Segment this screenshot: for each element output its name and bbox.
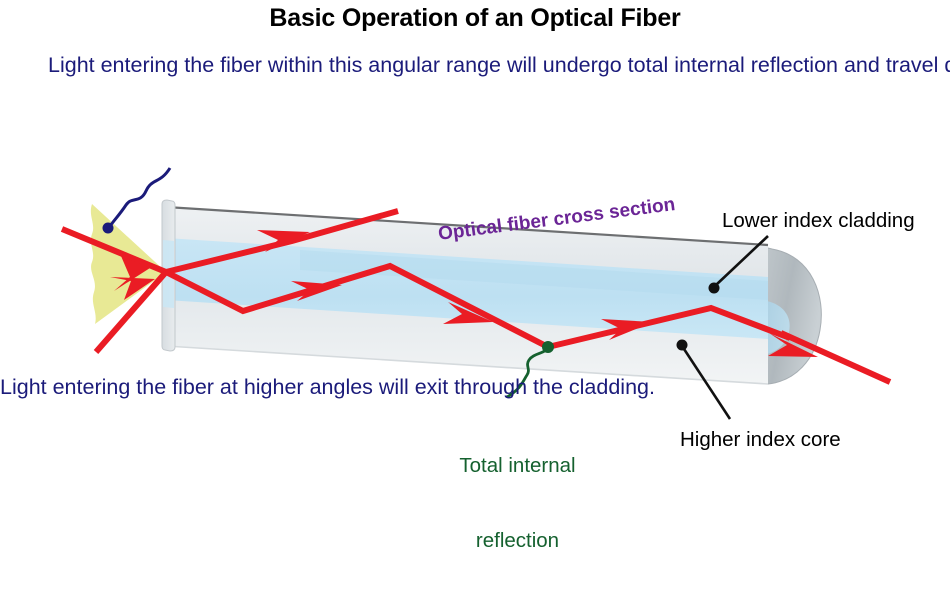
annotation-acceptance-cone: Light entering the fiber within this ang…: [48, 52, 408, 80]
page-title: Basic Operation of an Optical Fiber: [0, 4, 950, 34]
label-lower-index-cladding: Lower index cladding: [722, 209, 915, 233]
dot-marker-icon-tir: [542, 341, 554, 353]
label-tir-line1: Total internal: [430, 453, 605, 478]
label-tir-line2: reflection: [430, 528, 605, 553]
annotation-escape-rays: Light entering the fiber at higher angle…: [0, 374, 300, 402]
dot-marker-icon-cladding: [709, 283, 720, 294]
diagram-canvas: Basic Operation of an Optical Fiber Ligh…: [0, 0, 950, 465]
label-total-internal-reflection: Total internal reflection: [430, 403, 605, 603]
leader-acceptance-cone: [103, 168, 171, 234]
label-higher-index-core: Higher index core: [680, 428, 841, 452]
leader-line-acceptance: [110, 168, 170, 226]
dot-marker-icon-core: [677, 340, 688, 351]
dot-marker-icon-cone: [103, 223, 114, 234]
